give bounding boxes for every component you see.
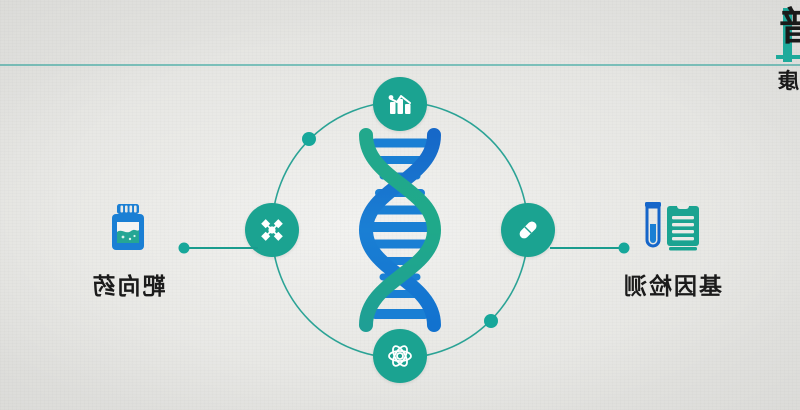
molecule-icon bbox=[258, 216, 286, 244]
title-block: 精准医疗科普 精准基因·精准健康 bbox=[776, 6, 800, 95]
side-item-targeted-drug[interactable]: 靶向药 bbox=[48, 196, 208, 301]
side-icon-wrap-left bbox=[48, 196, 208, 258]
ring-dot-lower-right bbox=[484, 314, 498, 328]
atom-icon bbox=[386, 342, 414, 370]
dna-helix-illustration bbox=[317, 127, 483, 333]
node-atom[interactable] bbox=[373, 329, 427, 383]
page-subtitle: 精准基因·精准健康 bbox=[776, 65, 800, 95]
test-tube-clipboard-icon bbox=[633, 196, 711, 258]
page-title: 精准医疗科普 bbox=[776, 6, 800, 50]
infographic-poster: 精准医疗科普 精准基因·精准健康 bbox=[0, 0, 800, 410]
capsule-icon bbox=[514, 216, 542, 244]
node-analytics[interactable] bbox=[373, 77, 427, 131]
center-composition bbox=[255, 85, 545, 375]
pill-bottle-icon bbox=[97, 196, 159, 258]
node-medicine[interactable] bbox=[501, 203, 555, 257]
side-item-gene-test[interactable]: 基因检测 bbox=[592, 196, 752, 301]
bar-chart-icon bbox=[386, 90, 414, 118]
ring-dot-upper-left bbox=[302, 132, 316, 146]
side-label-gene-test: 基因检测 bbox=[592, 267, 752, 301]
title-underline bbox=[776, 55, 800, 59]
side-icon-wrap-right bbox=[592, 196, 752, 258]
side-label-targeted-drug: 靶向药 bbox=[48, 267, 208, 301]
header-divider-rule bbox=[0, 64, 800, 66]
